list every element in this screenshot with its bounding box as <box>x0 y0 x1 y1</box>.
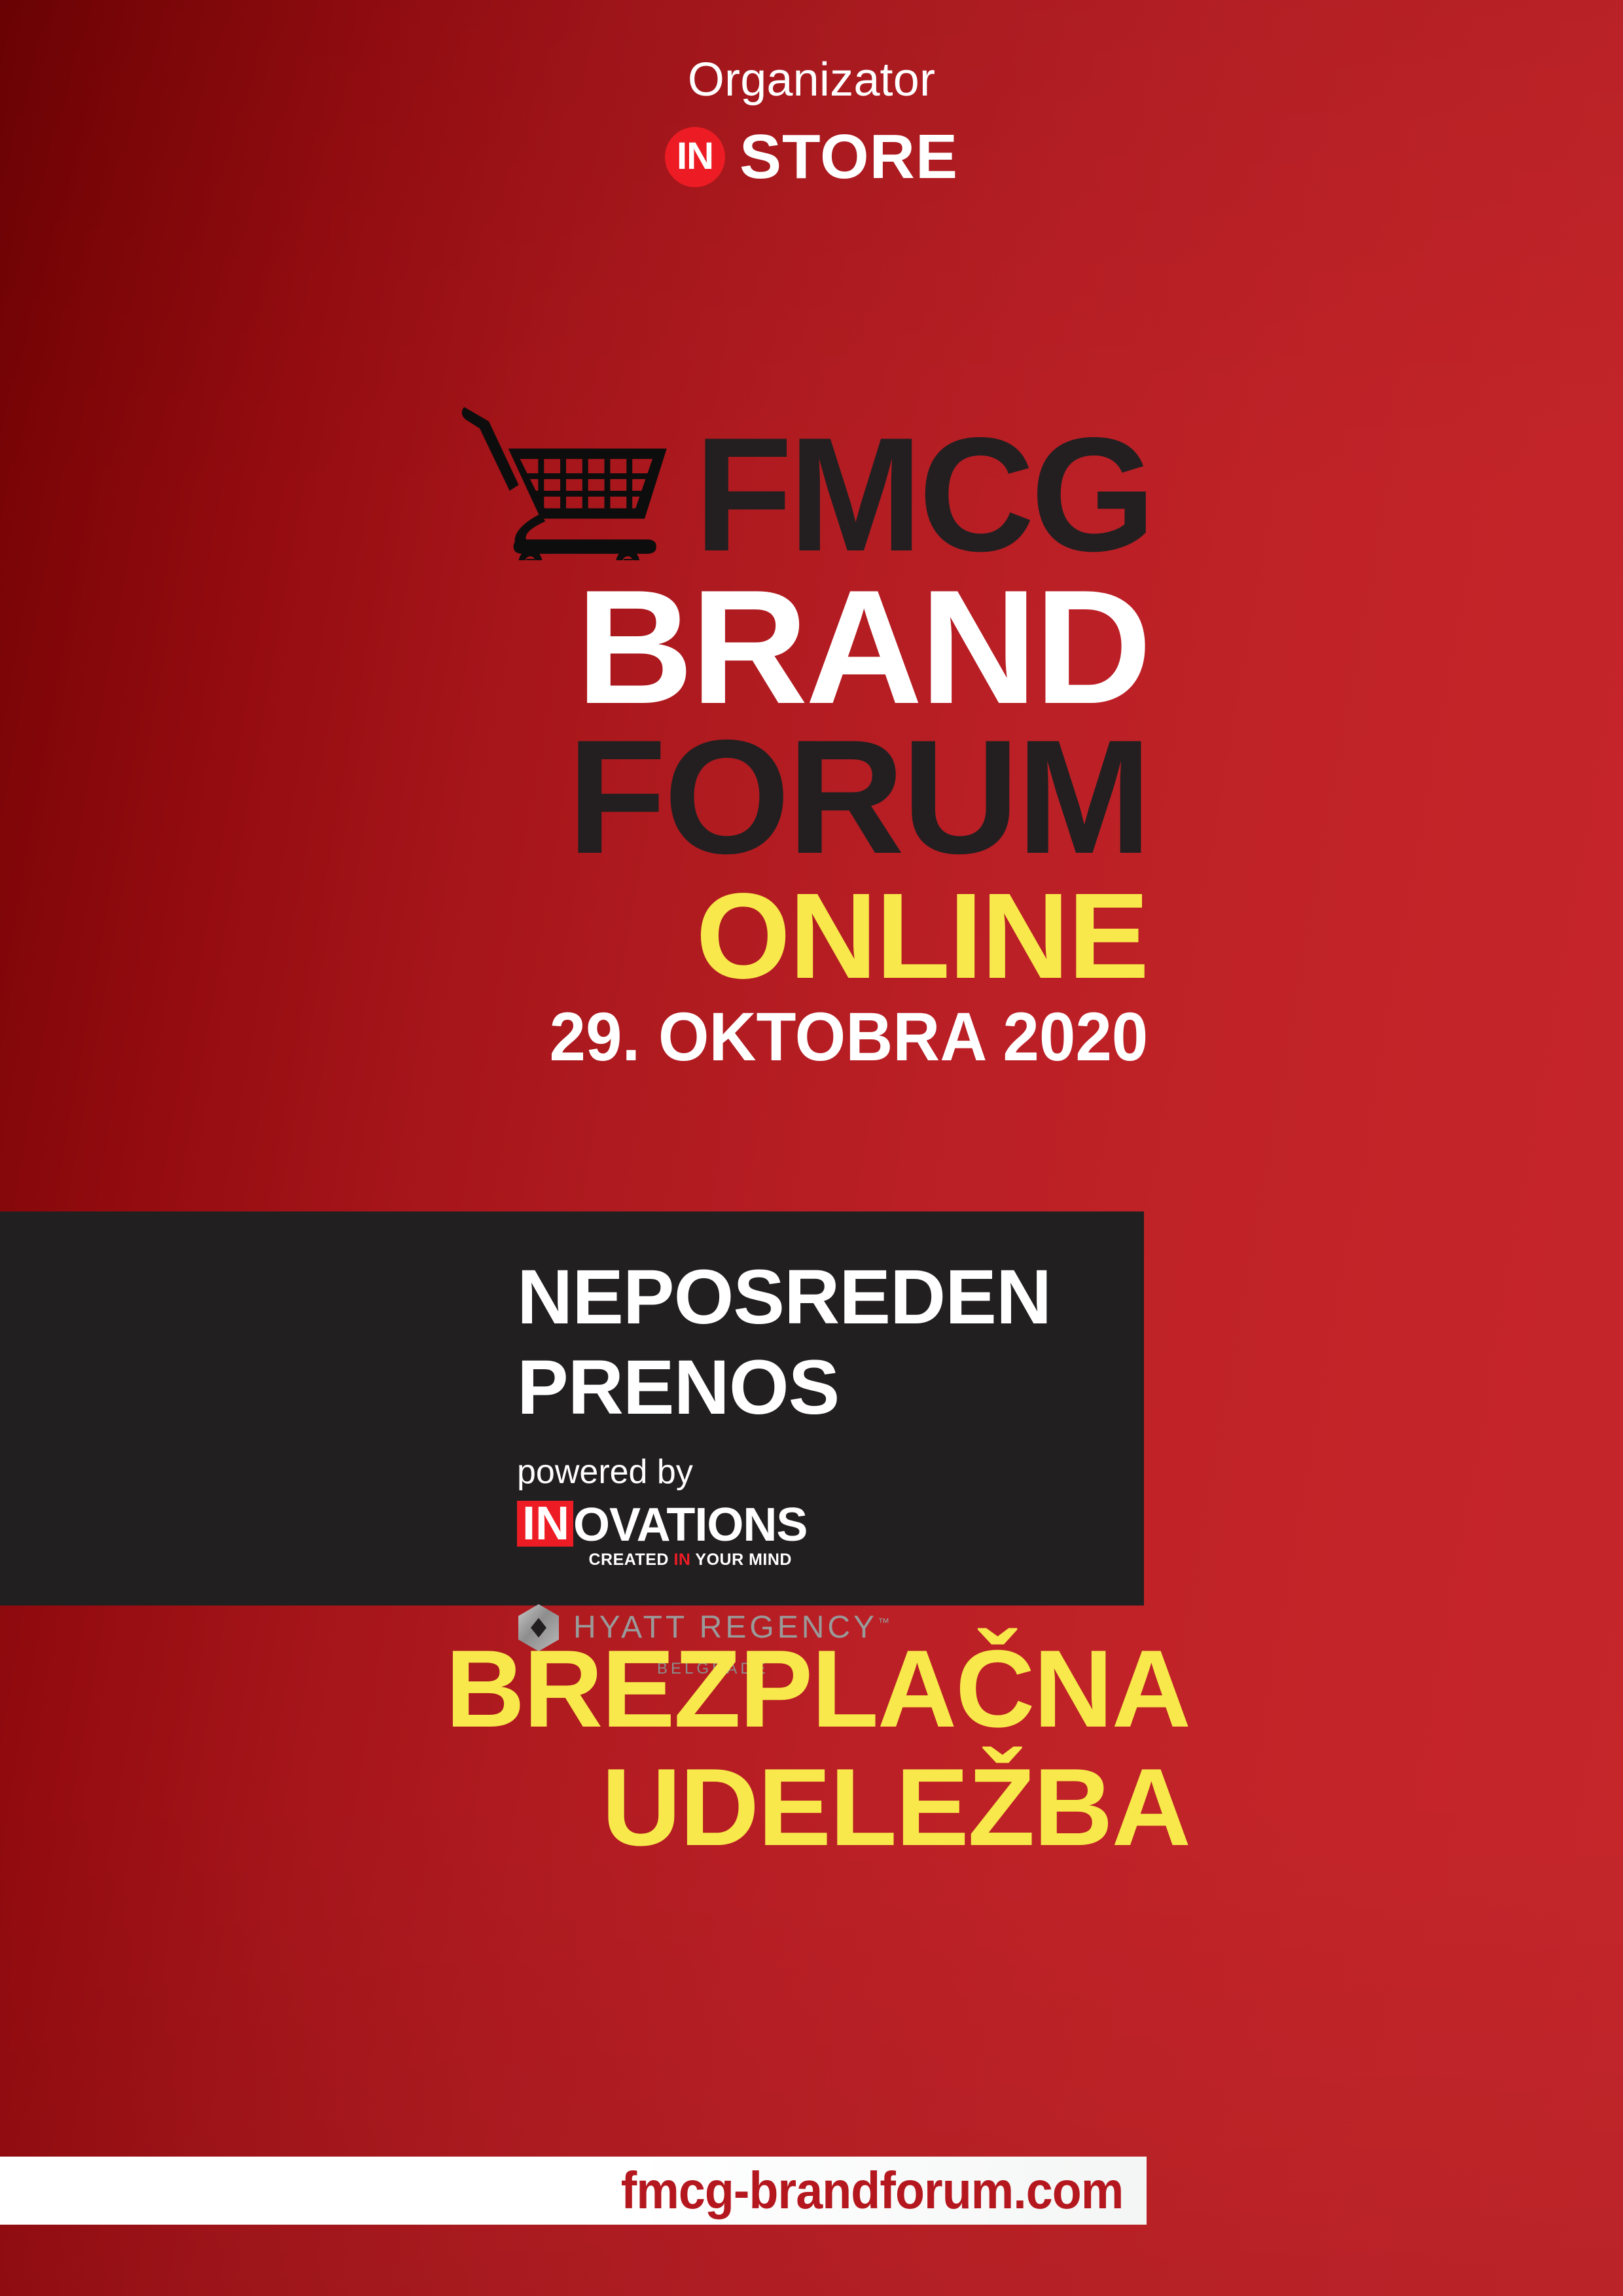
poster-canvas: Organizator IN STORE <box>0 0 1623 2296</box>
event-date: 29. OKTOBRA 2020 <box>58 1003 1152 1071</box>
title-word-brand: BRAND <box>0 577 1152 717</box>
organizer-header: Organizator IN STORE <box>0 56 1623 188</box>
free-participation-line2: UDELEŽBA <box>0 1748 1191 1867</box>
broadcast-headline-line2: PRENOS <box>517 1342 1144 1433</box>
title-row-fmcg: FMCG <box>0 393 1152 564</box>
title-word-forum: FORUM <box>0 727 1152 867</box>
title-word-online: ONLINE <box>0 884 1152 989</box>
inovations-wordmark: IN OVATIONS <box>517 1501 792 1547</box>
title-lockup: FMCG BRAND FORUM ONLINE 29. OKTOBRA 2020 <box>0 393 1152 1071</box>
instore-logo-word: STORE <box>740 126 958 188</box>
inovations-tagline-pre: CREATED <box>589 1551 674 1569</box>
free-participation-block: BREZPLAČNA UDELEŽBA <box>0 1630 1191 1867</box>
free-participation-line1: BREZPLAČNA <box>0 1630 1191 1748</box>
title-word-fmcg: FMCG <box>694 425 1152 564</box>
broadcast-panel-content: NEPOSREDEN PRENOS powered by IN OVATIONS… <box>517 1252 1144 1677</box>
broadcast-panel: NEPOSREDEN PRENOS powered by IN OVATIONS… <box>0 1211 1144 1605</box>
inovations-wordmark-rest: OVATIONS <box>573 1503 807 1547</box>
inovations-tagline-highlight: IN <box>673 1551 690 1569</box>
instore-logo: IN STORE <box>665 126 958 188</box>
inovations-tagline: CREATED IN YOUR MIND <box>517 1551 792 1570</box>
organizer-label: Organizator <box>0 56 1623 103</box>
shopping-cart-icon <box>457 398 673 560</box>
website-url[interactable]: fmcg-brandforum.com <box>620 2164 1123 2217</box>
powered-by-label: powered by <box>517 1455 1144 1489</box>
in-circle-icon: IN <box>665 127 725 187</box>
broadcast-headline-line1: NEPOSREDEN <box>517 1252 1144 1342</box>
inovations-in-mark: IN <box>517 1501 573 1547</box>
inovations-logo: IN OVATIONS CREATED IN YOUR MIND <box>517 1501 792 1570</box>
footer-bar: fmcg-brandforum.com <box>0 2157 1147 2225</box>
inovations-tagline-post: YOUR MIND <box>690 1551 792 1569</box>
